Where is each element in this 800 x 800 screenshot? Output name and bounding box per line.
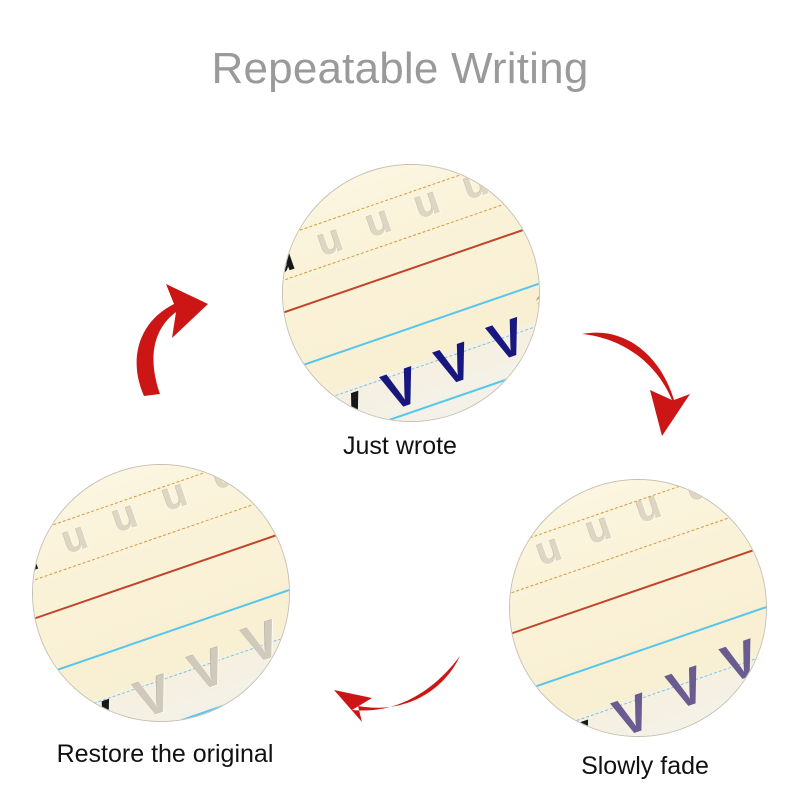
paper-surface: 伞 u u u u u V V V V V [33, 465, 289, 721]
page-title: Repeatable Writing [0, 44, 800, 94]
paper-surface: u u u u u V V V V V [283, 165, 539, 421]
caption-restore-original: Restore the original [0, 740, 330, 769]
arrow-wrote-to-fade [578, 328, 696, 446]
arrow-restore-to-wrote [130, 282, 245, 397]
arrow-fade-to-restore [332, 652, 462, 734]
photo-just-wrote: u u u u u V V V V V [283, 165, 539, 421]
caption-slowly-fade: Slowly fade [520, 752, 770, 781]
photo-restore-original: 伞 u u u u u V V V V V [33, 465, 289, 721]
photo-slowly-fade: 伞 u u u u u V V V V V [510, 480, 766, 736]
paper-surface: 伞 u u u u u V V V V V [510, 480, 766, 736]
